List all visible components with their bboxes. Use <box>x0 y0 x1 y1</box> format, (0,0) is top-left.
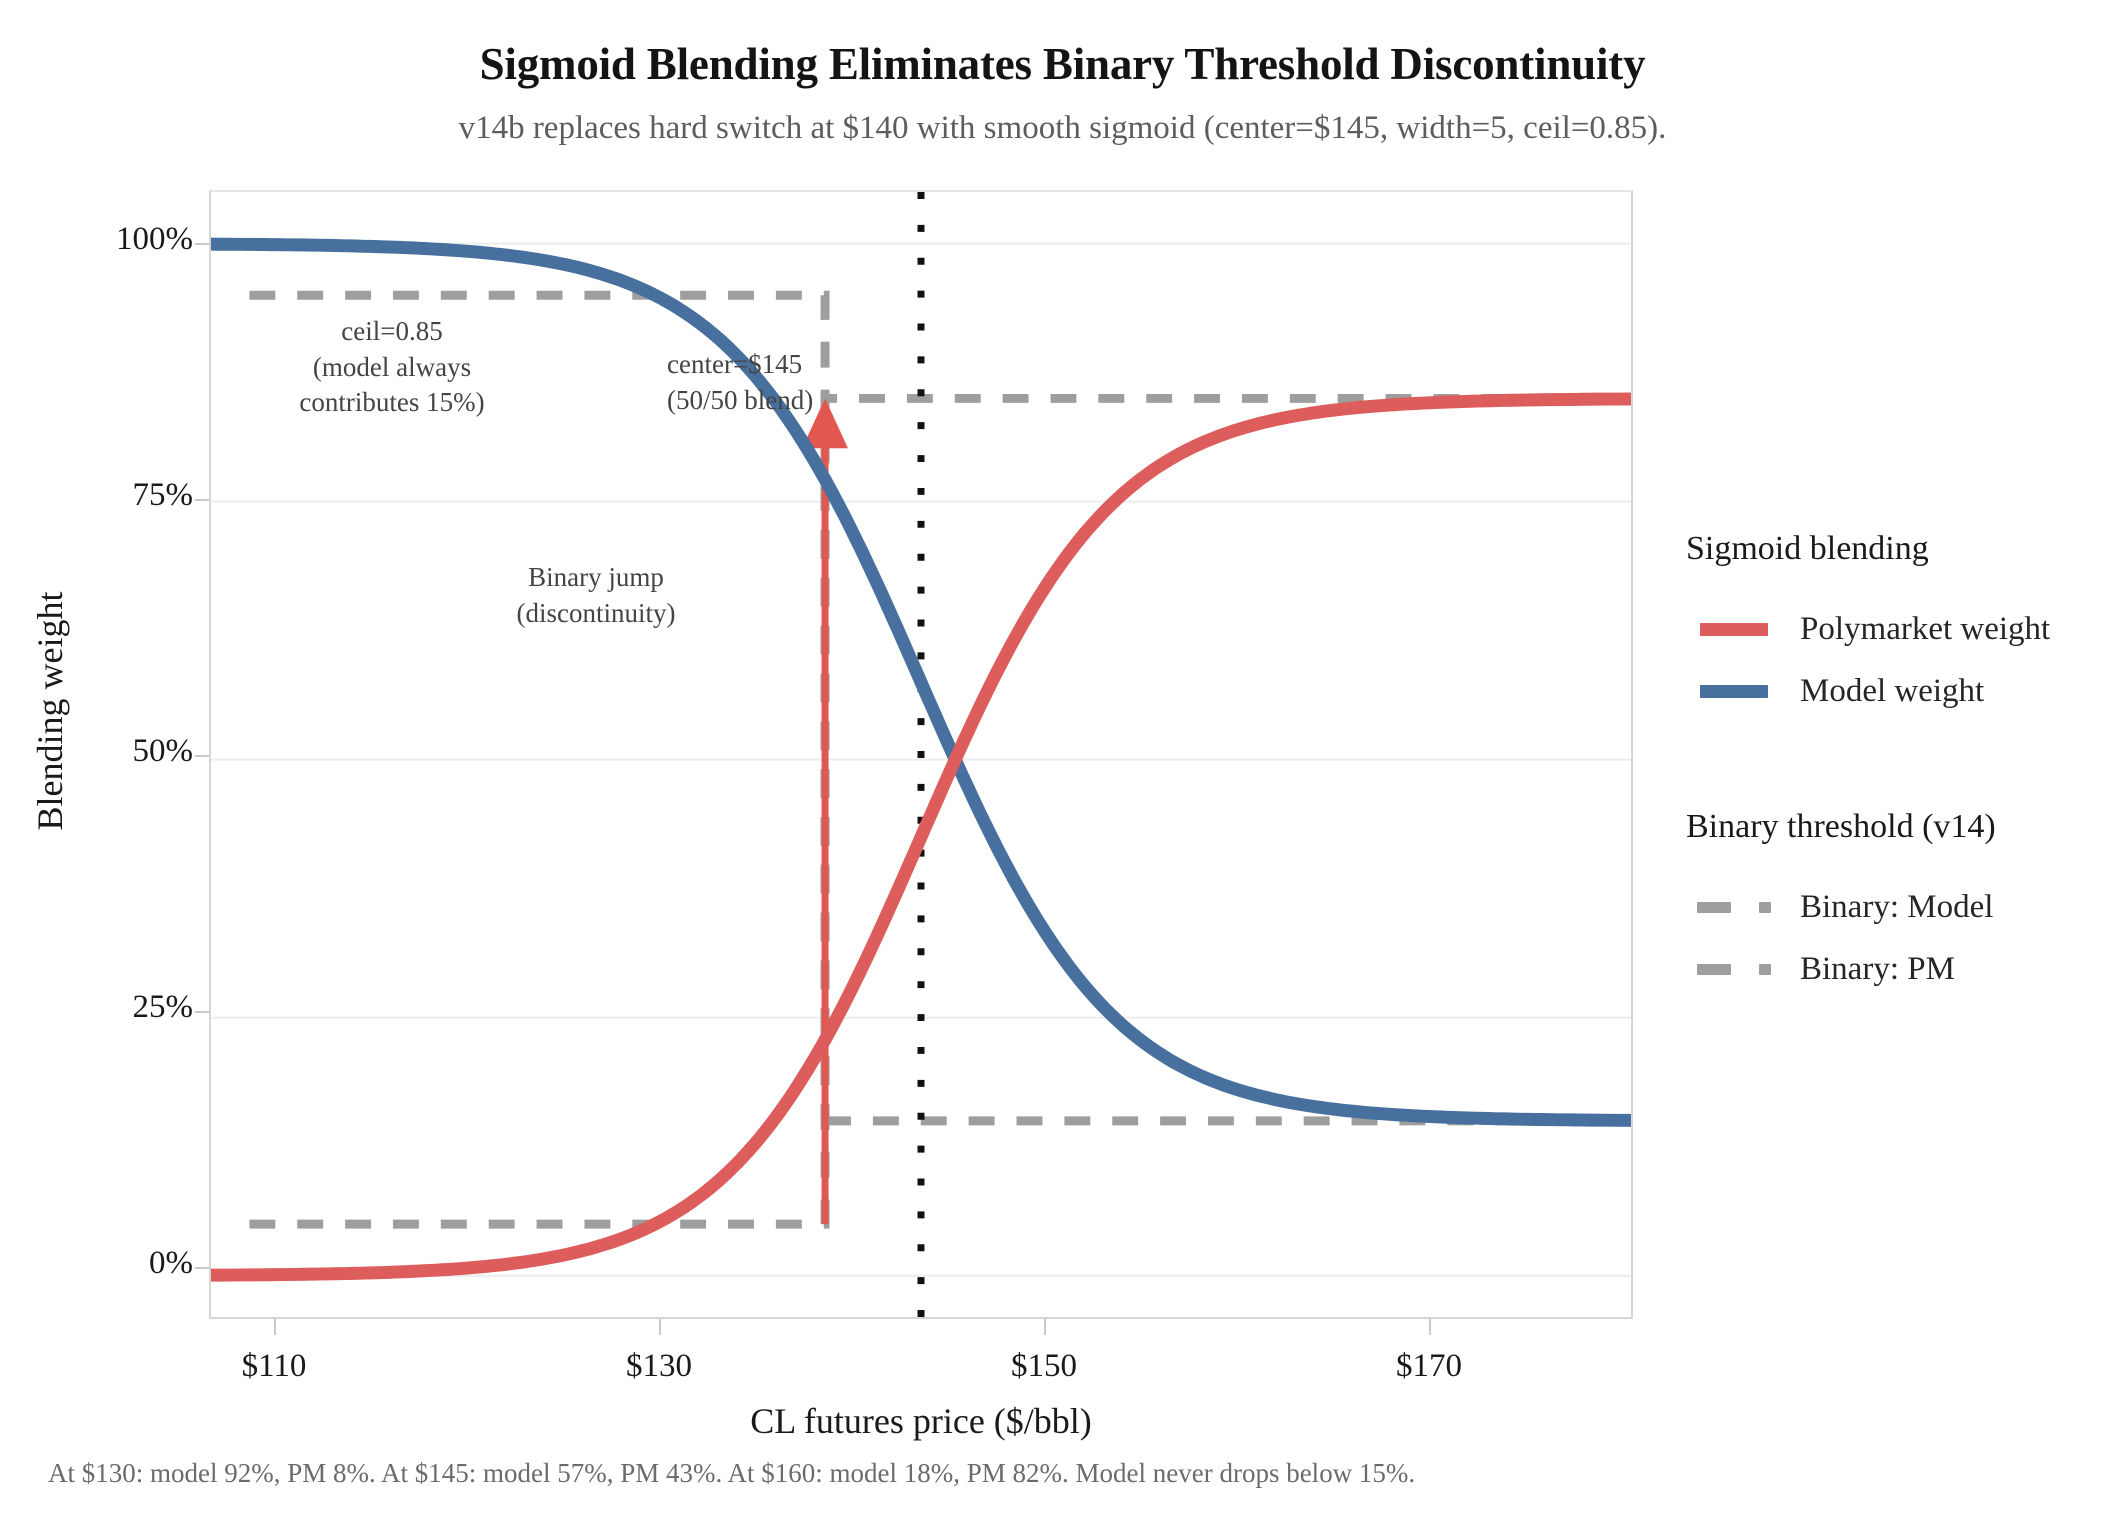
y-tick-label-25: 25% <box>0 989 193 1026</box>
legend: Sigmoid blending Polymarket weight Model… <box>1686 530 2116 1000</box>
legend-item-polymarket-weight[interactable]: Polymarket weight <box>1686 598 2116 660</box>
legend-item-binary-pm[interactable]: Binary: PM <box>1686 938 2116 1000</box>
chart-caption: At $130: model 92%, PM 8%. At $145: mode… <box>48 1458 2048 1489</box>
legend-label-model: Model weight <box>1782 673 1984 710</box>
y-tick-mark <box>195 755 209 757</box>
y-tick-label-100: 100% <box>0 221 193 258</box>
x-tick-mark <box>659 1319 661 1335</box>
chart-title: Sigmoid Blending Eliminates Binary Thres… <box>0 38 2125 90</box>
x-tick-label-130: $130 <box>559 1348 759 1385</box>
legend-swatch-binary-model <box>1686 902 1782 913</box>
legend-item-model-weight[interactable]: Model weight <box>1686 660 2116 722</box>
legend-swatch-model <box>1686 685 1782 698</box>
x-tick-mark <box>274 1319 276 1335</box>
x-tick-label-170: $170 <box>1329 1348 1529 1385</box>
y-axis-label: Blending weight <box>29 461 71 961</box>
x-axis-label: CL futures price ($/bbl) <box>209 1400 1633 1442</box>
y-tick-label-0: 0% <box>0 1245 193 1282</box>
x-tick-label-150: $150 <box>944 1348 1144 1385</box>
y-tick-mark <box>195 1267 209 1269</box>
chart-subtitle: v14b replaces hard switch at $140 with s… <box>0 110 2125 147</box>
legend-section-title-binary: Binary threshold (v14) <box>1686 808 2116 846</box>
legend-section-title-sigmoid: Sigmoid blending <box>1686 530 2116 568</box>
legend-swatch-polymarket <box>1686 623 1782 636</box>
legend-label-polymarket: Polymarket weight <box>1782 611 2050 648</box>
annotation-ceil: ceil=0.85 (model always contributes 15%) <box>227 314 557 421</box>
binary-pm-step <box>249 398 1631 1224</box>
legend-swatch-binary-pm <box>1686 964 1782 975</box>
y-tick-mark <box>195 499 209 501</box>
legend-label-binary-pm: Binary: PM <box>1782 951 1955 988</box>
y-tick-mark <box>195 1011 209 1013</box>
polymarket-weight-curve <box>211 399 1631 1275</box>
annotation-center: center=$145 (50/50 blend) <box>667 347 1007 418</box>
y-tick-mark <box>195 243 209 245</box>
plot-area: ceil=0.85 (model always contributes 15%)… <box>209 190 1633 1319</box>
x-tick-mark <box>1429 1319 1431 1335</box>
x-tick-label-110: $110 <box>174 1348 374 1385</box>
x-tick-mark <box>1044 1319 1046 1335</box>
legend-label-binary-model: Binary: Model <box>1782 889 1993 926</box>
annotation-binary-jump: Binary jump (discontinuity) <box>436 560 756 631</box>
legend-item-binary-model[interactable]: Binary: Model <box>1686 876 2116 938</box>
